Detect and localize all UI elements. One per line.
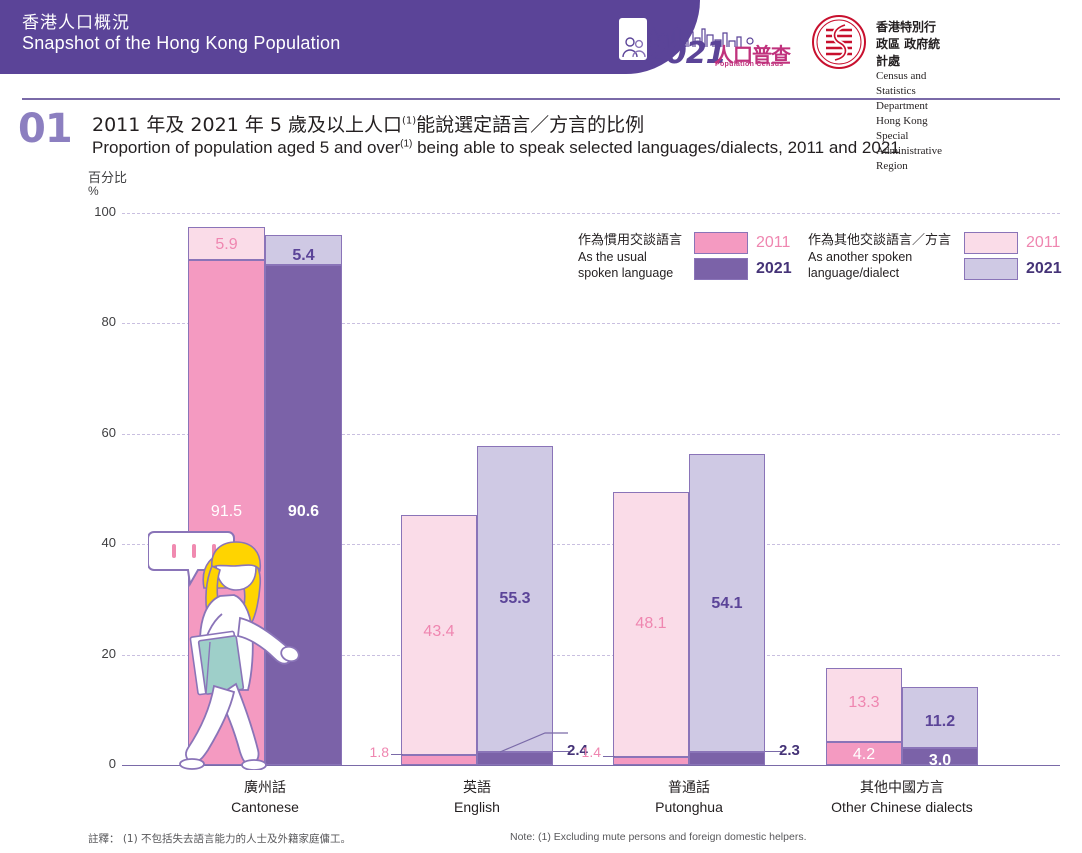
x-axis-category-other: 其他中國方言Other Chinese dialects [792,777,1012,815]
category-label-zh: 其他中國方言 [792,777,1012,797]
label-2011-usual-english: 1.8 [341,744,389,760]
label-2021-usual-other: 3.0 [902,752,978,770]
label-2021-another-other: 11.2 [902,713,978,731]
legend-another-zh: 作為其他交談語言／方言 [808,232,951,249]
bar-2011-usual-putonghua [613,757,689,765]
section-title-en-a: Proportion of population aged 5 and over [92,138,400,157]
category-label-en: Cantonese [155,799,375,815]
legend-year-another-2011: 2011 [1026,234,1060,252]
label-2021-another-cantonese: 5.4 [265,247,342,265]
label-2011-usual-putonghua: 1.4 [553,744,601,760]
gridline [122,323,1060,324]
census-sub: Population Census [715,61,784,68]
label-2021-another-putonghua: 54.1 [689,595,765,613]
leader-line-2011-english [391,754,403,755]
bar-2021-another-cantonese [265,235,342,265]
bar-2021-usual-english [477,752,553,765]
bar-2011-another-english [401,515,477,755]
leader-line-2021-english [553,751,569,752]
x-axis-category-english: 英語English [367,777,587,815]
label-2021-usual-cantonese: 90.6 [265,503,342,521]
y-axis-tick: 40 [80,535,116,550]
section-title-zh-b: 能說選定語言／方言的比例 [416,114,644,136]
legend-usual-en2: spoken language [578,265,682,281]
infographic-page: 香港人口概況 Snapshot of the Hong Kong Populat… [0,0,1082,853]
census-logo: 2021 人口普查 Population Census [614,16,800,74]
bar-2021-another-other [902,687,978,749]
legend-swatch-another-2011 [964,232,1018,254]
bar-2011-usual-english [401,755,477,765]
label-2021-usual-english: 2.4 [567,742,615,759]
bar-2011-another-putonghua [613,492,689,758]
y-axis-tick: 60 [80,425,116,440]
walking-woman-illustration [148,522,308,770]
x-axis-category-putonghua: 普通話Putonghua [579,777,799,815]
legend-swatch-another-2021 [964,258,1018,280]
legend-swatch-usual-2021 [694,258,748,280]
csd-title-en1: Census and Statistics Department [876,69,942,114]
section-title-en-b: being able to speak selected languages/d… [412,138,899,157]
label-2011-another-other: 13.3 [826,694,902,712]
csd-title-zh: 香港特別行政區 政府統計處 [876,18,942,69]
leader-line-2021-putonghua [765,751,781,752]
legend-swatch-usual-2011 [694,232,748,254]
section-title-en: Proportion of population aged 5 and over… [92,138,900,158]
header-band: 香港人口概況 Snapshot of the Hong Kong Populat… [0,0,700,74]
category-label-zh: 普通話 [579,777,799,797]
label-2011-another-putonghua: 48.1 [613,615,689,633]
bar-2011-another-other [826,668,902,741]
section-title-zh: 2011 年及 2021 年 5 歲及以上人口(1)能說選定語言／方言的比例 [92,110,644,137]
csd-emblem-icon [812,15,866,69]
bar-2011-another-cantonese [188,227,265,260]
header-title-en: Snapshot of the Hong Kong Population [22,33,340,54]
section-title-en-sup: (1) [400,138,412,149]
section-title-zh-sup: (1) [402,116,416,127]
section-number: 01 [18,106,72,152]
legend-year-another-2021: 2021 [1026,260,1062,278]
bar-2021-usual-putonghua [689,752,765,765]
legend-usual-en1: As the usual [578,249,682,265]
category-label-zh: 英語 [367,777,587,797]
legend-usual-zh: 作為慣用交談語言 [578,232,682,249]
y-axis-tick: 0 [80,756,116,771]
legend-group-another: 作為其他交談語言／方言 As another spoken language/d… [808,232,951,281]
legend-another-en1: As another spoken [808,249,951,265]
x-axis-category-cantonese: 廣州話Cantonese [155,777,375,815]
label-2011-another-english: 43.4 [401,623,477,641]
section-title-zh-a: 2011 年及 2021 年 5 歲及以上人口 [92,114,402,136]
bar-2021-another-english [477,446,553,751]
legend-group-usual: 作為慣用交談語言 As the usual spoken language [578,232,682,281]
legend-year-usual-2021: 2021 [756,260,792,278]
gridline [122,434,1060,435]
y-axis-label-unit: % [88,184,99,198]
label-2021-another-english: 55.3 [477,590,553,608]
y-axis-tick: 100 [80,204,116,219]
y-axis-tick: 20 [80,646,116,661]
leader-line-2011-putonghua [603,756,615,757]
bar-2021-usual-other [902,748,978,765]
label-2011-another-cantonese: 5.9 [188,236,265,254]
label-2011-usual-cantonese: 91.5 [188,503,265,521]
category-label-zh: 廣州話 [155,777,375,797]
gridline [122,213,1060,214]
bar-2021-another-putonghua [689,454,765,753]
bar-2011-usual-other [826,742,902,765]
y-axis-tick: 80 [80,314,116,329]
people-icon [621,36,647,60]
header-title-zh: 香港人口概況 [22,8,130,33]
footnote-en: Note: (1) Excluding mute persons and for… [510,831,807,843]
header-divider [22,98,1060,100]
label-2021-usual-putonghua: 2.3 [779,742,827,759]
legend-another-en2: language/dialect [808,265,951,281]
category-label-en: Other Chinese dialects [792,799,1012,815]
category-label-en: English [367,799,587,815]
legend-year-usual-2011: 2011 [756,234,790,252]
category-label-en: Putonghua [579,799,799,815]
label-2011-usual-other: 4.2 [826,746,902,764]
footnote-zh: 註釋： (1) 不包括失去語言能力的人士及外籍家庭傭工。 [88,831,351,846]
